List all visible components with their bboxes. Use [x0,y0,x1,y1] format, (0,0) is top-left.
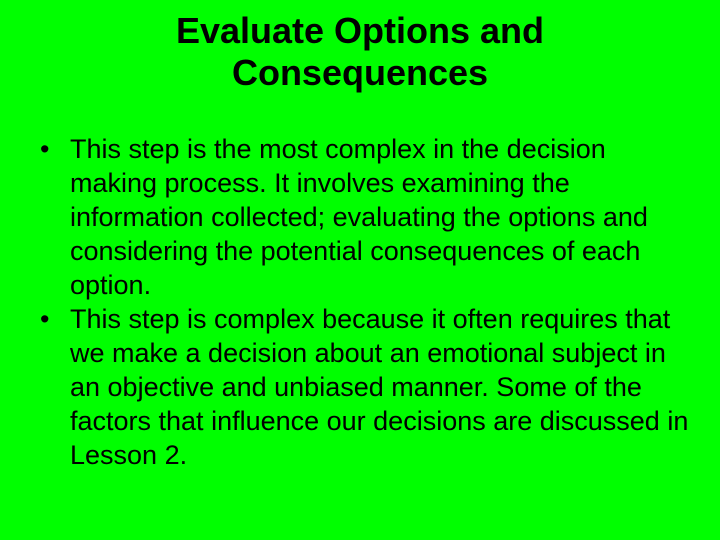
bullet-marker-icon: • [40,132,62,166]
bullet-text: This step is the most complex in the dec… [70,132,692,302]
bullet-marker-icon: • [40,302,62,336]
bullet-item: • This step is complex because it often … [32,302,692,472]
slide-body-placeholder: • This step is the most complex in the d… [32,132,692,472]
presentation-slide: Evaluate Options and Consequences • This… [0,0,720,540]
slide-title-line-1: Evaluate Options and [176,10,544,51]
bullet-text: This step is complex because it often re… [70,302,692,472]
slide-title: Evaluate Options and Consequences [36,10,684,94]
bullet-item: • This step is the most complex in the d… [32,132,692,302]
slide-title-line-2: Consequences [232,52,488,93]
